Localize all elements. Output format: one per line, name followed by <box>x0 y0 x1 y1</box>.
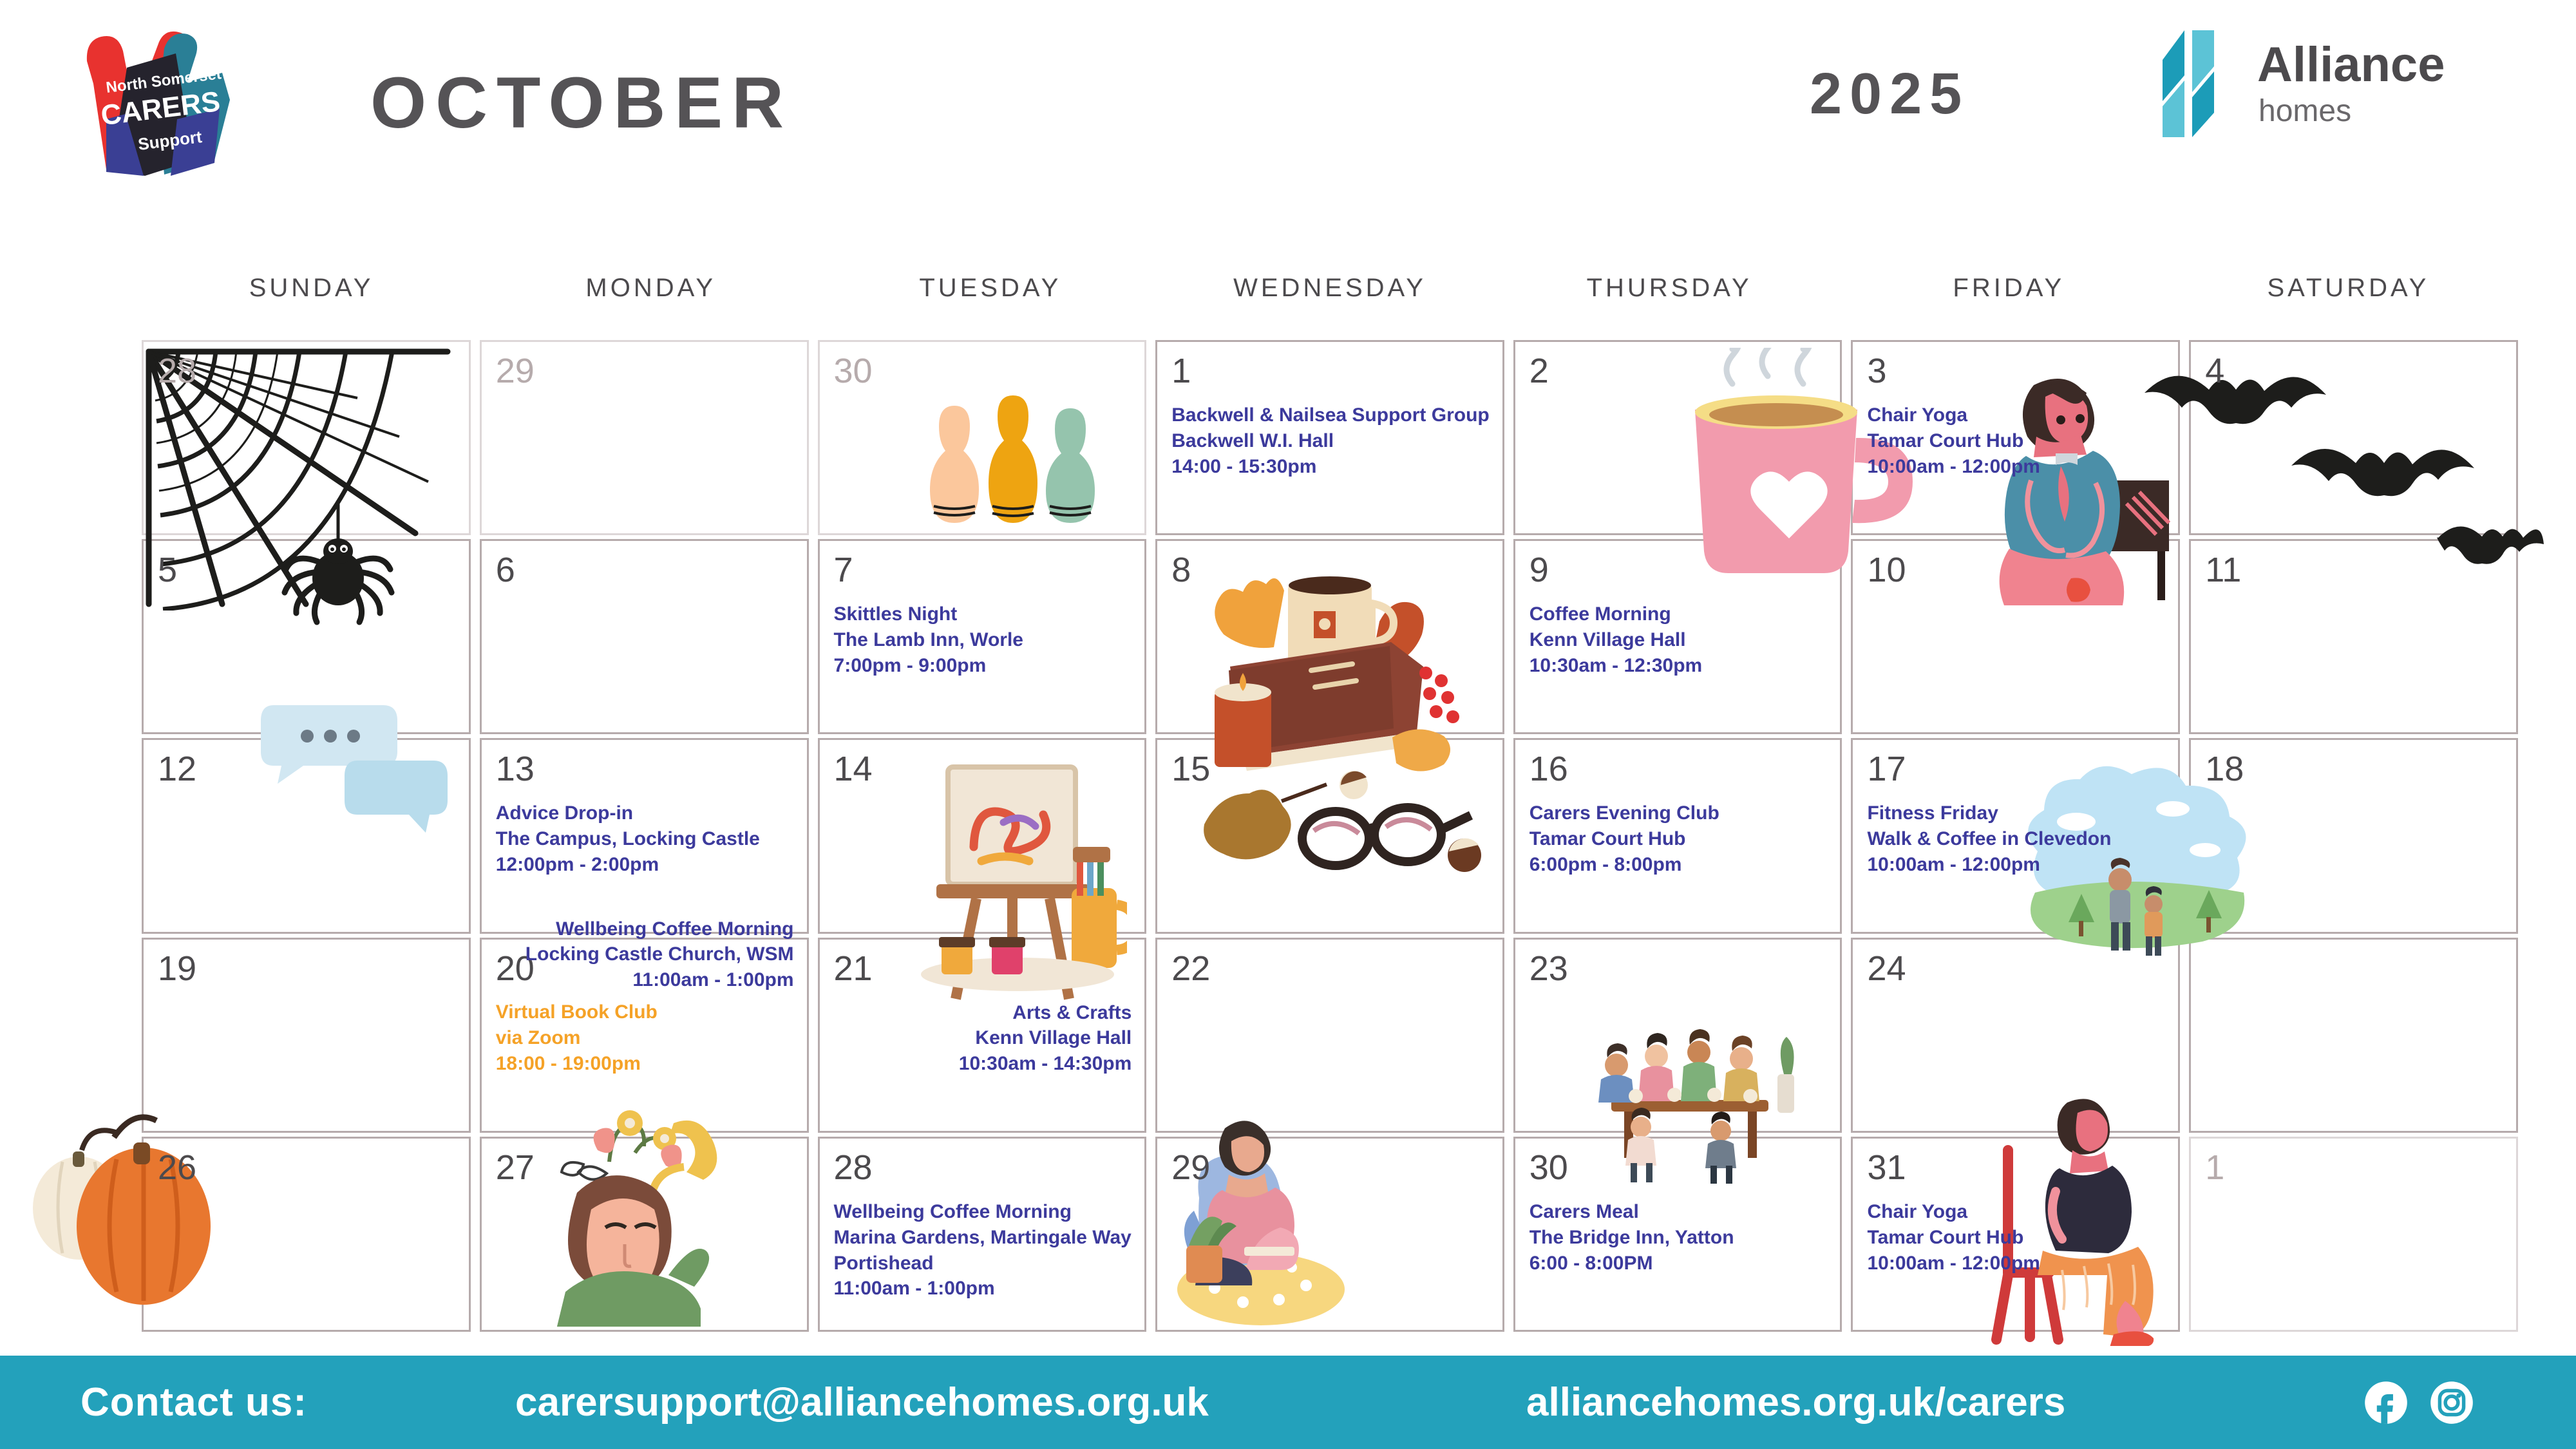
weekday-friday: FRIDAY <box>1839 274 2179 319</box>
calendar-day-cell[interactable]: 11 <box>2189 539 2518 734</box>
day-number: 8 <box>1171 553 1489 587</box>
day-events: Arts & CraftsKenn Village Hall10:30am - … <box>834 1000 1132 1077</box>
day-number: 6 <box>496 553 794 587</box>
event-time: 10:30am - 12:30pm <box>1529 653 1828 679</box>
calendar-event[interactable]: Fitness FridayWalk & Coffee in Clevedon1… <box>1867 800 2165 878</box>
year-title: 2025 <box>1810 61 1969 128</box>
day-number: 11 <box>2205 553 2503 587</box>
calendar-event[interactable]: Wellbeing Coffee MorningMarina Gardens, … <box>834 1199 1132 1302</box>
day-number: 7 <box>834 553 1132 587</box>
day-number: 15 <box>1171 752 1489 786</box>
instagram-icon[interactable] <box>2429 1380 2474 1425</box>
event-title: Wellbeing Coffee Morning <box>496 916 794 942</box>
calendar-day-cell[interactable]: 27 <box>480 1137 809 1332</box>
calendar-day-cell[interactable]: 18 <box>2189 738 2518 933</box>
alliance-homes-logo: Alliance homes <box>2138 29 2537 138</box>
day-number: 23 <box>1529 951 1828 986</box>
social-links <box>2363 1380 2474 1425</box>
day-events: Chair YogaTamar Court Hub10:00am - 12:00… <box>1867 402 2165 480</box>
calendar-day-cell[interactable]: 7Skittles NightThe Lamb Inn, Worle7:00pm… <box>818 539 1147 734</box>
calendar-day-cell[interactable]: 16Carers Evening ClubTamar Court Hub6:00… <box>1513 738 1842 933</box>
day-number: 22 <box>1171 951 1489 986</box>
weekday-tuesday: TUESDAY <box>820 274 1160 319</box>
calendar-day-cell[interactable]: 15 <box>1155 738 1504 933</box>
weekday-monday: MONDAY <box>481 274 820 319</box>
facebook-icon[interactable] <box>2363 1380 2409 1425</box>
calendar-event[interactable]: Carers Evening ClubTamar Court Hub6:00pm… <box>1529 800 1828 878</box>
calendar-event[interactable]: Coffee MorningKenn Village Hall10:30am -… <box>1529 601 1828 679</box>
contact-label: Contact us: <box>80 1379 307 1425</box>
calendar-day-cell[interactable]: 28Wellbeing Coffee MorningMarina Gardens… <box>818 1137 1147 1332</box>
calendar-day-cell[interactable]: 2 <box>1513 340 1842 535</box>
event-time: 10:30am - 14:30pm <box>834 1051 1132 1077</box>
event-title: Wellbeing Coffee Morning <box>834 1199 1132 1225</box>
event-location: Tamar Court Hub <box>1867 1225 2165 1251</box>
event-title: Arts & Crafts <box>834 1000 1132 1026</box>
calendar-day-cell[interactable]: 3Chair YogaTamar Court Hub10:00am - 12:0… <box>1851 340 2180 535</box>
day-number: 1 <box>2205 1150 2503 1185</box>
calendar-day-cell[interactable]: 29 <box>480 340 809 535</box>
event-title: Backwell & Nailsea Support Group <box>1171 402 1489 428</box>
event-time: 12:00pm - 2:00pm <box>496 852 794 878</box>
event-time: 10:00am - 12:00pm <box>1867 852 2165 878</box>
calendar-day-cell[interactable]: 20Wellbeing Coffee MorningLocking Castle… <box>480 938 809 1133</box>
day-number: 19 <box>158 951 456 986</box>
calendar-event[interactable]: Virtual Book Clubvia Zoom18:00 - 19:00pm <box>496 999 794 1077</box>
event-location: Marina Gardens, Martingale Way <box>834 1225 1132 1251</box>
event-title: Carers Meal <box>1529 1199 1828 1225</box>
day-number: 18 <box>2205 752 2503 786</box>
event-time: 7:00pm - 9:00pm <box>834 653 1132 679</box>
event-title: Carers Evening Club <box>1529 800 1828 826</box>
calendar-day-cell[interactable]: 21Arts & CraftsKenn Village Hall10:30am … <box>818 938 1147 1133</box>
day-events: Backwell & Nailsea Support GroupBackwell… <box>1171 402 1489 480</box>
calendar-day-cell[interactable]: 10 <box>1851 539 2180 734</box>
contact-email[interactable]: carersupport@alliancehomes.org.uk <box>515 1379 1209 1425</box>
calendar-day-cell[interactable]: 4 <box>2189 340 2518 535</box>
day-number: 26 <box>158 1150 456 1185</box>
calendar-day-cell[interactable]: 30 <box>818 340 1147 535</box>
calendar-event[interactable]: Carers MealThe Bridge Inn, Yatton6:00 - … <box>1529 1199 1828 1276</box>
day-events: Chair YogaTamar Court Hub10:00am - 12:00… <box>1867 1199 2165 1276</box>
day-number: 28 <box>158 354 456 388</box>
calendar-day-cell[interactable]: 19 <box>142 938 471 1133</box>
event-time: 18:00 - 19:00pm <box>496 1051 794 1077</box>
contact-website[interactable]: alliancehomes.org.uk/carers <box>1526 1379 2065 1425</box>
calendar-event[interactable]: Skittles NightThe Lamb Inn, Worle7:00pm … <box>834 601 1132 679</box>
event-title: Virtual Book Club <box>496 999 794 1025</box>
day-number: 13 <box>496 752 794 786</box>
calendar-day-cell[interactable]: 14 <box>818 738 1147 933</box>
event-location: Walk & Coffee in Clevedon <box>1867 826 2165 852</box>
alliance-mark-icon <box>2138 29 2241 138</box>
calendar-day-cell[interactable]: 6 <box>480 539 809 734</box>
calendar-day-cell[interactable]: 25 <box>2189 938 2518 1133</box>
calendar-day-cell[interactable]: 30Carers MealThe Bridge Inn, Yatton6:00 … <box>1513 1137 1842 1332</box>
day-number: 12 <box>158 752 456 786</box>
event-location: Kenn Village Hall <box>1529 627 1828 653</box>
event-location: The Bridge Inn, Yatton <box>1529 1225 1828 1251</box>
event-title: Coffee Morning <box>1529 601 1828 627</box>
day-number: 10 <box>1867 553 2165 587</box>
alliance-wordmark: Alliance <box>2257 37 2445 93</box>
event-location: Locking Castle Church, WSM <box>496 942 794 967</box>
calendar-event[interactable]: Wellbeing Coffee MorningLocking Castle C… <box>496 916 794 994</box>
day-number: 4 <box>2205 354 2503 388</box>
event-title: Chair Yoga <box>1867 1199 2165 1225</box>
event-time: 11:00am - 1:00pm <box>834 1276 1132 1302</box>
day-number: 21 <box>834 951 1132 986</box>
day-events: Carers MealThe Bridge Inn, Yatton6:00 - … <box>1529 1199 1828 1276</box>
event-time: 6:00pm - 8:00pm <box>1529 852 1828 878</box>
event-time: 14:00 - 15:30pm <box>1171 454 1489 480</box>
event-location: Kenn Village Hall <box>834 1025 1132 1051</box>
day-number: 30 <box>834 354 1132 388</box>
weekday-header-row: SUNDAY MONDAY TUESDAY WEDNESDAY THURSDAY… <box>142 274 2518 319</box>
calendar-day-cell[interactable]: 5 <box>142 539 471 734</box>
calendar-day-cell[interactable]: 13Advice Drop-inThe Campus, Locking Cast… <box>480 738 809 933</box>
event-time: 6:00 - 8:00PM <box>1529 1251 1828 1276</box>
calendar-day-cell[interactable]: 23 <box>1513 938 1842 1133</box>
calendar-day-cell[interactable]: 1 <box>2189 1137 2518 1332</box>
event-location: Portishead <box>834 1251 1132 1276</box>
calendar-day-cell[interactable]: 28 <box>142 340 471 535</box>
calendar-event[interactable]: Arts & CraftsKenn Village Hall10:30am - … <box>834 1000 1132 1077</box>
event-time: 10:00am - 12:00pm <box>1867 454 2165 480</box>
day-events: Wellbeing Coffee MorningMarina Gardens, … <box>834 1199 1132 1302</box>
month-title: OCTOBER <box>370 61 793 144</box>
weekday-thursday: THURSDAY <box>1500 274 1839 319</box>
calendar-day-cell[interactable]: 29 <box>1155 1137 1504 1332</box>
event-title: Advice Drop-in <box>496 800 794 826</box>
event-location: Backwell W.I. Hall <box>1171 428 1489 454</box>
weekday-sunday: SUNDAY <box>142 274 481 319</box>
calendar-day-cell[interactable]: 8 <box>1155 539 1504 734</box>
calendar-event[interactable]: Advice Drop-inThe Campus, Locking Castle… <box>496 800 794 878</box>
event-time: 10:00am - 12:00pm <box>1867 1251 2165 1276</box>
day-number: 29 <box>496 354 794 388</box>
calendar-day-cell[interactable]: 1Backwell & Nailsea Support GroupBackwel… <box>1155 340 1504 535</box>
day-number: 9 <box>1529 553 1828 587</box>
footer-contact-bar: Contact us: carersupport@alliancehomes.o… <box>0 1356 2576 1449</box>
calendar-day-cell[interactable]: 26 <box>142 1137 471 1332</box>
calendar-day-cell[interactable]: 17Fitness FridayWalk & Coffee in Clevedo… <box>1851 738 2180 933</box>
day-number: 27 <box>496 1150 794 1185</box>
event-title: Fitness Friday <box>1867 800 2165 826</box>
day-number: 16 <box>1529 752 1828 786</box>
day-events: Skittles NightThe Lamb Inn, Worle7:00pm … <box>834 601 1132 679</box>
calendar-day-cell[interactable]: 9Coffee MorningKenn Village Hall10:30am … <box>1513 539 1842 734</box>
day-events: Advice Drop-inThe Campus, Locking Castle… <box>496 800 794 878</box>
day-number: 2 <box>1529 354 1828 388</box>
event-time: 11:00am - 1:00pm <box>496 967 794 993</box>
day-events: Carers Evening ClubTamar Court Hub6:00pm… <box>1529 800 1828 878</box>
weekday-wednesday: WEDNESDAY <box>1160 274 1499 319</box>
day-number: 30 <box>1529 1150 1828 1185</box>
event-location: Tamar Court Hub <box>1867 428 2165 454</box>
day-number: 14 <box>834 752 1132 786</box>
day-events: Wellbeing Coffee MorningLocking Castle C… <box>496 916 794 1077</box>
calendar-day-cell[interactable]: 12 <box>142 738 471 933</box>
event-location: via Zoom <box>496 1025 794 1051</box>
event-title: Chair Yoga <box>1867 402 2165 428</box>
day-number: 3 <box>1867 354 2165 388</box>
page-header: North Somerset CARERS Support OCTOBER 20… <box>0 0 2576 258</box>
calendar-event[interactable]: Chair YogaTamar Court Hub10:00am - 12:00… <box>1867 1199 2165 1276</box>
alliance-sub-label: homes <box>2259 93 2351 129</box>
day-number: 29 <box>1171 1150 1489 1185</box>
day-events: Coffee MorningKenn Village Hall10:30am -… <box>1529 601 1828 679</box>
calendar-event[interactable]: Chair YogaTamar Court Hub10:00am - 12:00… <box>1867 402 2165 480</box>
event-location: Tamar Court Hub <box>1529 826 1828 852</box>
weekday-saturday: SATURDAY <box>2179 274 2518 319</box>
calendar-day-cell[interactable]: 24 <box>1851 938 2180 1133</box>
day-number: 17 <box>1867 752 2165 786</box>
calendar-event[interactable]: Backwell & Nailsea Support GroupBackwell… <box>1171 402 1489 480</box>
day-number: 24 <box>1867 951 2165 986</box>
day-number: 28 <box>834 1150 1132 1185</box>
calendar-grid: 2829301Backwell & Nailsea Support GroupB… <box>142 340 2518 1332</box>
calendar-day-cell[interactable]: 22 <box>1155 938 1504 1133</box>
day-number: 1 <box>1171 354 1489 388</box>
event-location: The Campus, Locking Castle <box>496 826 794 852</box>
north-somerset-carers-support-logo: North Somerset CARERS Support <box>68 23 261 184</box>
event-location: The Lamb Inn, Worle <box>834 627 1132 653</box>
event-title: Skittles Night <box>834 601 1132 627</box>
day-number: 5 <box>158 553 456 587</box>
day-events: Fitness FridayWalk & Coffee in Clevedon1… <box>1867 800 2165 878</box>
calendar-day-cell[interactable]: 31Chair YogaTamar Court Hub10:00am - 12:… <box>1851 1137 2180 1332</box>
day-number: 31 <box>1867 1150 2165 1185</box>
